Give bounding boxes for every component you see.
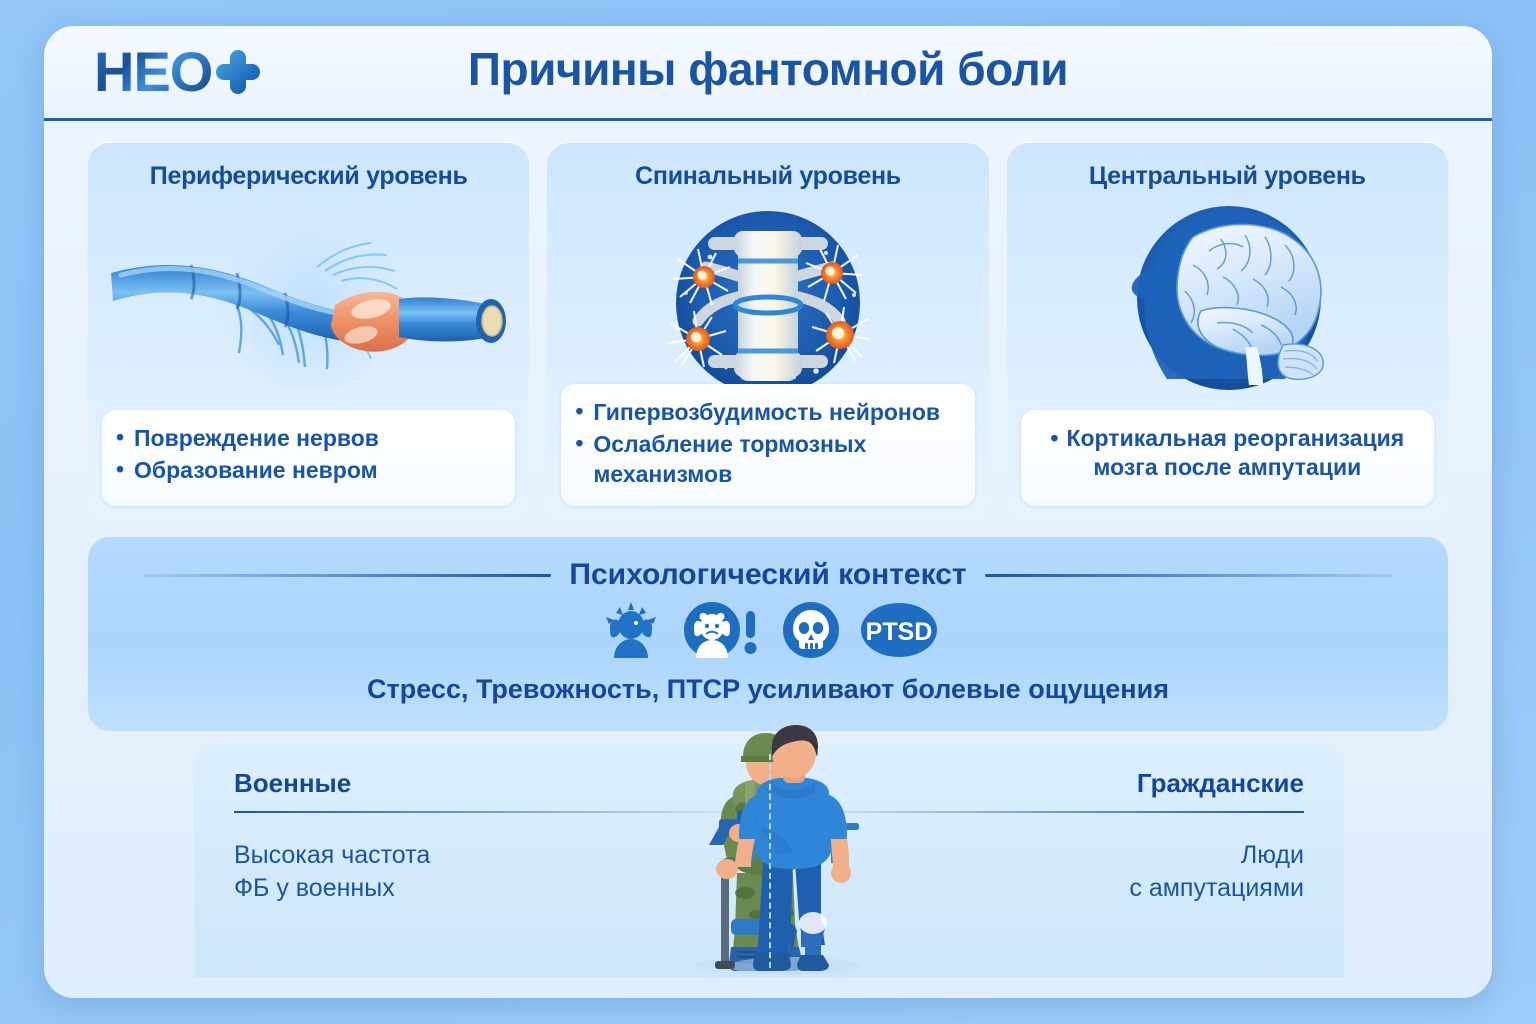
skull-icon (782, 601, 840, 664)
psych-rule-right (985, 574, 1392, 577)
spine-neurons-illustration (547, 195, 988, 390)
bullet-box-peripheral: Повреждение нервов Образование невром (102, 410, 515, 506)
level-title-spinal: Спинальный уровень (547, 142, 988, 191)
level-title-central: Центральный уровень (1007, 142, 1448, 191)
bullet-item: Гипервозбудимость нейронов (573, 398, 962, 427)
brain-head-illustration (1007, 195, 1448, 390)
psych-title: Психологический контекст (569, 558, 966, 592)
bullet-item: Кортикальная реорганизация мозга после а… (1033, 424, 1422, 483)
bullet-item: Повреждение нервов (114, 424, 503, 453)
bullet-item: Образование невром (114, 456, 503, 485)
level-card-central: Центральный уровень (1007, 142, 1448, 520)
psych-title-row: Психологический контекст (88, 536, 1448, 592)
psychological-context-panel: Психологический контекст (88, 536, 1448, 731)
psych-icons-row: PTSD (88, 602, 1448, 662)
bullet-list-peripheral: Повреждение нервов Образование невром (114, 424, 503, 486)
level-card-peripheral: Периферический уровень (88, 142, 529, 520)
page-title: Причины фантомной боли (44, 42, 1492, 96)
civilian-with-cane-prosthetic-icon (697, 723, 887, 980)
level-title-peripheral: Периферический уровень (88, 142, 529, 191)
levels-row: Периферический уровень (88, 142, 1448, 520)
infographic-poster: НЕО Причины фантомной боли Периферически… (44, 26, 1492, 998)
ptsd-badge-label: PTSD (866, 618, 933, 646)
ptsd-badge-icon: PTSD (860, 601, 938, 664)
bullet-list-central: Кортикальная реорганизация мозга после а… (1033, 424, 1422, 483)
bullet-item: Ослабление тормозных механизмов (573, 430, 962, 489)
psych-caption: Стресс, Тревожность, ПТСР усиливают боле… (88, 674, 1448, 705)
bullet-list-spinal: Гипервозбудимость нейронов Ослабление то… (573, 398, 962, 489)
nerve-fiber-neuroma-illustration (88, 195, 529, 390)
poster-header: НЕО Причины фантомной боли (44, 26, 1492, 121)
stress-person-icon (598, 601, 664, 664)
level-card-spinal: Спинальный уровень (547, 142, 988, 520)
bullet-box-central: Кортикальная реорганизация мозга после а… (1021, 410, 1434, 506)
psych-rule-left (144, 574, 551, 577)
anxiety-person-exclamation-icon (684, 601, 762, 664)
comparison-panel: Военные Высокая частота ФБ у военных Гра… (194, 746, 1344, 978)
bullet-box-spinal: Гипервозбудимость нейронов Ослабление то… (561, 384, 974, 506)
